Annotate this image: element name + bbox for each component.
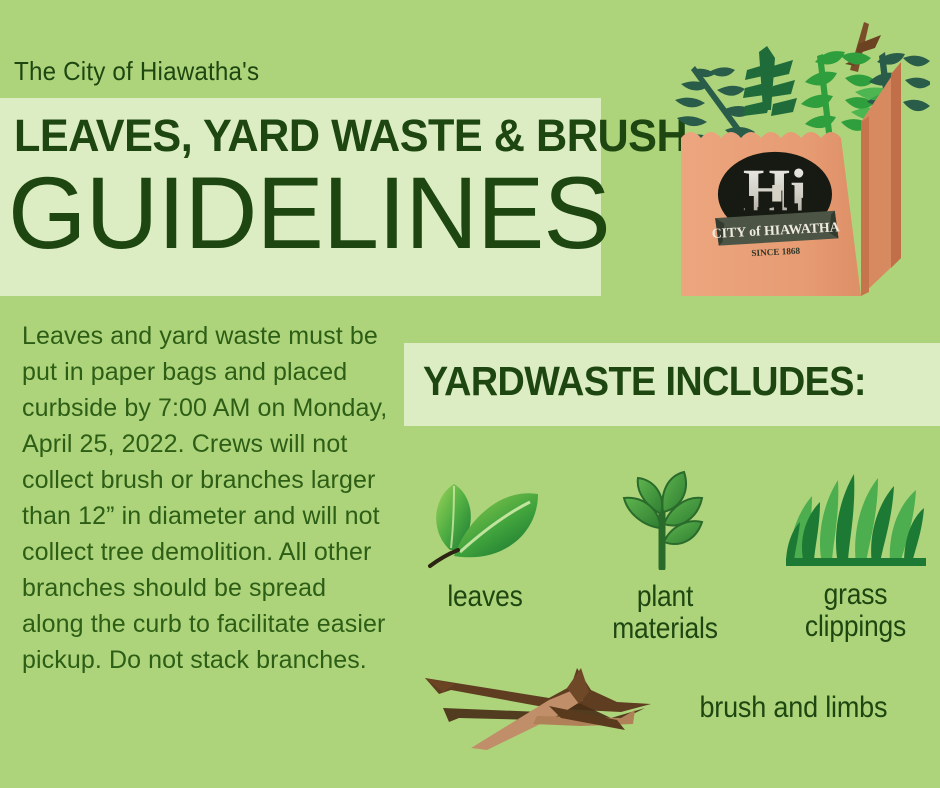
- plant-materials-label-block: plant materials: [580, 581, 750, 645]
- paper-bag-svg: Hi CITY of HIAWATHA SINCE 1868: [655, 0, 930, 305]
- grass-clippings-icon: [768, 468, 940, 573]
- yardwaste-item-plant-materials: plant materials: [580, 470, 750, 645]
- grass-clippings-label-line1: grass: [779, 579, 933, 611]
- page-title-line2: GUIDELINES: [8, 162, 610, 264]
- yardwaste-item-grass-clippings: grass clippings: [768, 468, 940, 643]
- leaves-label: leaves: [410, 581, 560, 613]
- brush-and-limbs-icon: [421, 660, 657, 755]
- bag-branch-icon: [845, 22, 881, 72]
- plant-materials-label-line2: materials: [590, 613, 740, 645]
- yardwaste-item-leaves: leaves: [400, 478, 570, 613]
- bag-side-fold: [861, 116, 869, 296]
- brush-and-limbs-label: brush and limbs: [700, 692, 888, 724]
- bag-side-highlight: [891, 62, 901, 268]
- paper-bag-illustration: Hi CITY of HIAWATHA SINCE 1868: [655, 0, 930, 305]
- leaves-icon: [400, 478, 570, 575]
- plant-materials-label-line1: plant: [590, 581, 740, 613]
- plant-materials-icon: [580, 470, 750, 575]
- grass-clippings-label-line2: clippings: [779, 611, 933, 643]
- grass-clippings-label-block: grass clippings: [768, 579, 940, 643]
- infographic-canvas: The City of Hiawatha's LEAVES, YARD WAST…: [0, 0, 940, 788]
- page-title-line1: LEAVES, YARD WASTE & BRUSH: [14, 113, 687, 158]
- eyebrow-text: The City of Hiawatha's: [14, 56, 259, 87]
- yardwaste-item-brush-and-limbs: brush and limbs: [398, 660, 898, 755]
- yardwaste-heading: YARDWASTE INCLUDES:: [423, 361, 866, 402]
- guidelines-paragraph: Leaves and yard waste must be put in pap…: [22, 318, 394, 678]
